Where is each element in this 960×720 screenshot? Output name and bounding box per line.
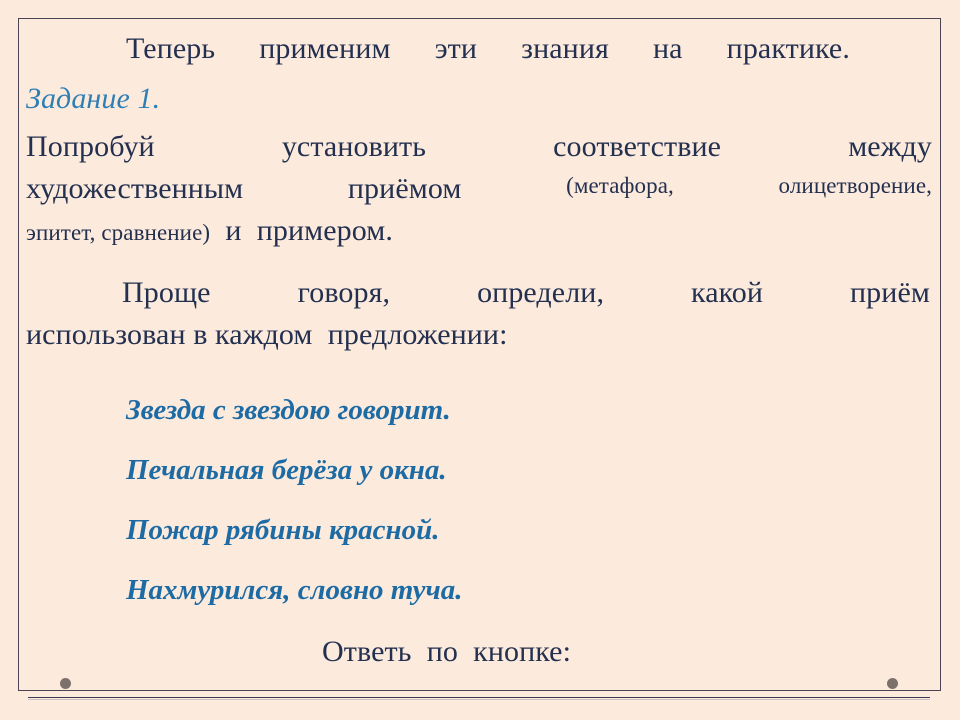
title-word: применим <box>259 34 390 64</box>
answer-prompt: Ответь по кнопке: <box>26 637 934 677</box>
instruction-word: Попробуй <box>26 132 155 172</box>
instruction-line-3: эпитет, сравнение) и примером. <box>26 216 934 256</box>
device-term: эпитет, сравнение) <box>26 220 210 245</box>
clarification-line-2: использован в каждом предложении: <box>26 320 934 360</box>
answer-prompt-word: по <box>427 635 458 668</box>
instruction-word: между <box>848 132 932 172</box>
clarification-line-1: Проще говоря, определи, какой приём <box>26 278 934 318</box>
instruction-word: художественным <box>26 174 243 214</box>
clarification-word: приём <box>850 278 930 318</box>
decorative-dot-left <box>60 678 71 689</box>
instruction-word: приёмом <box>348 174 462 214</box>
clarification-word: какой <box>691 278 763 318</box>
decorative-dot-right <box>887 678 898 689</box>
example-sentence: Звезда с звездою говорит. <box>126 394 934 427</box>
slide-content: Теперь применим эти знания на практике. … <box>26 20 934 680</box>
decorative-bottom-rule <box>28 697 930 700</box>
slide-title: Теперь применим эти знания на практике. <box>26 34 934 72</box>
clarification-word: Проще <box>122 278 211 318</box>
instruction-word: установить <box>282 132 426 172</box>
title-word: знания <box>521 34 609 64</box>
title-word: на <box>653 34 683 64</box>
presentation-slide: Теперь применим эти знания на практике. … <box>0 0 960 720</box>
clarification-word: определи, <box>477 278 604 318</box>
instruction-word: примером. <box>257 214 393 247</box>
clarification-text: использован в каждом предложении: <box>26 318 508 351</box>
example-sentence: Пожар рябины красной. <box>126 514 934 547</box>
clarification-word: говоря, <box>298 278 391 318</box>
instruction-word: и <box>225 214 241 247</box>
title-word: Теперь <box>126 34 215 64</box>
example-sentence: Печальная берёза у окна. <box>126 454 934 487</box>
task-label: Задание 1. <box>26 82 160 115</box>
instruction-line-2: художественным приёмом (метафора, олицет… <box>26 174 934 214</box>
example-sentence: Нахмурился, словно туча. <box>126 574 934 607</box>
title-word: практике. <box>727 34 850 64</box>
answer-prompt-word: Ответь <box>322 635 411 668</box>
task-heading-row: Задание 1. <box>26 84 934 122</box>
answer-prompt-word: кнопке: <box>473 635 571 668</box>
device-term: (метафора, <box>566 174 674 214</box>
instruction-line-1: Попробуй установить соответствие между <box>26 132 934 172</box>
instruction-word: соответствие <box>553 132 721 172</box>
title-word: эти <box>435 34 477 64</box>
device-term: олицетворение, <box>779 174 932 214</box>
